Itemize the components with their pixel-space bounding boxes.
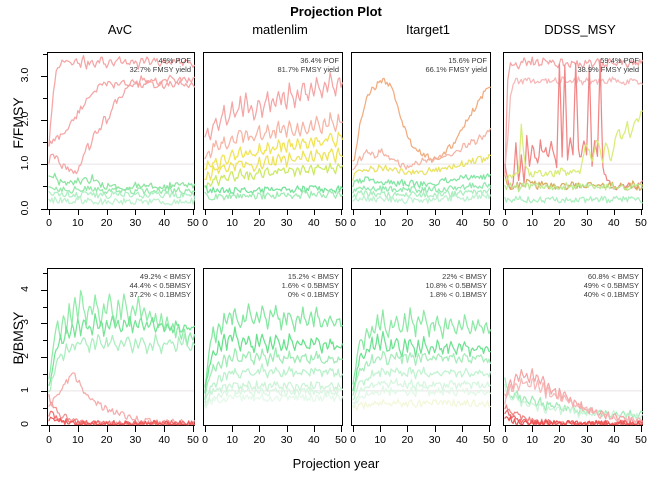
y-axis-minor-tick (43, 340, 47, 341)
x-axis-tick-label: 0 (193, 217, 217, 229)
x-axis-tick-label: 20 (95, 434, 119, 446)
panel-title-avc: AvC (40, 22, 200, 37)
x-axis-tick-label: 20 (395, 434, 419, 446)
plot-panel-itarget1-f-fmsy: 15.6% POF66.1% FMSY yield (351, 52, 491, 210)
plot-panel-itarget1-b-bmsy: 22% < BMSY10.8% < 0.5BMSY1.8% < 0.1BMSY (351, 268, 491, 426)
x-axis-tick-label: 40 (602, 434, 626, 446)
y-axis-tick-label: 0 (19, 408, 31, 440)
x-axis-tick-label: 0 (341, 434, 365, 446)
x-axis-tick (232, 210, 233, 215)
x-axis-tick-label: 20 (547, 217, 571, 229)
series-line (49, 80, 194, 145)
x-axis-tick (489, 426, 490, 432)
x-axis-tick (164, 426, 165, 432)
x-axis-tick (353, 426, 354, 432)
x-axis-tick (641, 426, 642, 432)
x-axis-tick (505, 426, 506, 432)
series-line (505, 196, 642, 203)
y-axis-tick (41, 290, 47, 291)
x-axis-tick (164, 210, 165, 215)
x-axis-tick-label: 30 (275, 217, 299, 229)
x-axis-tick-label: 0 (493, 217, 517, 229)
y-axis-minor-tick (43, 408, 47, 409)
series-line (49, 197, 194, 205)
x-axis-tick (614, 210, 615, 215)
x-axis-tick (341, 210, 342, 215)
series-line (353, 193, 490, 203)
x-axis-tick-label: 30 (423, 434, 447, 446)
x-axis-tick-label: 0 (37, 217, 61, 229)
projection-plot-figure: Projection Plot AvC matlenlim Itarget1 D… (0, 0, 672, 480)
panel-title-ddss-msy: DDSS_MSY (500, 22, 660, 37)
series-canvas (47, 52, 195, 210)
x-axis-tick (205, 426, 206, 432)
y-axis-minor-tick (43, 374, 47, 375)
x-axis-tick (205, 210, 206, 215)
series-canvas (351, 268, 491, 426)
x-axis-tick (641, 210, 642, 215)
x-axis-label: Projection year (0, 456, 672, 471)
y-axis-tick-label: 1 (19, 374, 31, 406)
x-axis-tick-label: 0 (493, 434, 517, 446)
x-axis-tick-label: 40 (602, 217, 626, 229)
x-axis-tick (435, 426, 436, 432)
x-axis-tick-label: 30 (575, 434, 599, 446)
series-line (353, 79, 490, 163)
x-axis-tick (259, 210, 260, 215)
x-axis-tick-label: 20 (247, 434, 271, 446)
series-canvas (203, 52, 343, 210)
series-canvas (47, 268, 195, 426)
y-axis-tick-label: 2 (19, 340, 31, 372)
y-axis-tick-label: 3.0 (19, 59, 31, 91)
x-axis-tick (193, 426, 194, 432)
y-axis-minor-tick (43, 142, 47, 143)
y-axis-tick-label: 4 (19, 273, 31, 305)
x-axis-tick-label: 10 (520, 217, 544, 229)
series-line (49, 56, 194, 146)
x-axis-tick (135, 426, 136, 432)
x-axis-tick-label: 40 (152, 434, 176, 446)
y-axis-minor-tick (43, 54, 47, 55)
x-axis-tick (78, 426, 79, 432)
series-line (49, 373, 194, 425)
y-axis-tick (41, 209, 47, 210)
series-line (205, 191, 342, 200)
x-axis-tick-label: 30 (123, 434, 147, 446)
series-line (205, 163, 342, 188)
x-axis-tick-label: 0 (37, 434, 61, 446)
x-axis-tick-label: 20 (95, 217, 119, 229)
x-axis-tick-label: 30 (575, 217, 599, 229)
plot-panel-matlenlim-b-bmsy: 15.2% < BMSY1.6% < 0.5BMSY0% < 0.1BMSY (203, 268, 343, 426)
x-axis-tick-label: 0 (341, 217, 365, 229)
x-axis-tick (407, 426, 408, 432)
y-axis-tick-label: 2.0 (19, 103, 31, 135)
y-axis-tick (41, 164, 47, 165)
figure-title: Projection Plot (0, 4, 672, 19)
x-axis-tick (462, 210, 463, 215)
plot-panel-ddss-msy-b-bmsy: 60.8% < BMSY49% < 0.5BMSY40% < 0.1BMSY (503, 268, 643, 426)
x-axis-tick (532, 426, 533, 432)
x-axis-tick (353, 210, 354, 215)
plot-panel-avc-b-bmsy: 49.2% < BMSY44.4% < 0.5BMSY37.2% < 0.1BM… (47, 268, 195, 426)
x-axis-tick (380, 210, 381, 215)
series-line (49, 173, 194, 190)
x-axis-tick (559, 426, 560, 432)
x-axis-tick (78, 210, 79, 215)
x-axis-tick (614, 426, 615, 432)
x-axis-tick (435, 210, 436, 215)
y-axis-tick (41, 391, 47, 392)
y-axis-minor-tick (43, 76, 47, 77)
series-canvas (203, 268, 343, 426)
y-axis-minor-tick (43, 186, 47, 187)
x-axis-tick (380, 426, 381, 432)
y-axis-tick (41, 357, 47, 358)
x-axis-tick (287, 426, 288, 432)
y-axis-tick-label: 1.0 (19, 147, 31, 179)
x-axis-tick-label: 10 (368, 434, 392, 446)
x-axis-tick-label: 10 (220, 217, 244, 229)
x-axis-tick (559, 210, 560, 215)
x-axis-tick-label: 50 (629, 434, 653, 446)
x-axis-tick-label: 40 (302, 217, 326, 229)
y-axis-minor-tick (43, 273, 47, 274)
x-axis-tick-label: 30 (123, 217, 147, 229)
x-axis-tick-label: 30 (423, 217, 447, 229)
x-axis-tick (314, 426, 315, 432)
x-axis-tick (587, 210, 588, 215)
series-line (353, 129, 490, 170)
y-axis-tick-label: 0.0 (19, 192, 31, 224)
x-axis-tick (107, 210, 108, 215)
x-axis-tick-label: 10 (520, 434, 544, 446)
y-axis-tick (41, 425, 47, 426)
x-axis-tick-label: 10 (368, 217, 392, 229)
x-axis-tick-label: 40 (152, 217, 176, 229)
x-axis-tick (107, 426, 108, 432)
plot-panel-avc-f-fmsy: 49% POF32.7% FMSY yield (47, 52, 195, 210)
x-axis-tick-label: 30 (275, 434, 299, 446)
x-axis-tick (49, 426, 50, 432)
x-axis-tick (341, 426, 342, 432)
x-axis-tick (505, 210, 506, 215)
series-line (353, 399, 490, 410)
series-canvas (503, 268, 643, 426)
x-axis-tick-label: 20 (395, 217, 419, 229)
x-axis-tick (314, 210, 315, 215)
x-axis-tick-label: 0 (193, 434, 217, 446)
x-axis-tick (532, 210, 533, 215)
panel-title-itarget1: Itarget1 (348, 22, 508, 37)
x-axis-tick (587, 426, 588, 432)
x-axis-tick (193, 210, 194, 215)
x-axis-tick (407, 210, 408, 215)
series-line (49, 291, 194, 379)
x-axis-tick-label: 40 (450, 434, 474, 446)
x-axis-tick-label: 40 (302, 434, 326, 446)
series-line (49, 334, 194, 392)
x-axis-tick-label: 10 (66, 434, 90, 446)
series-line (205, 72, 342, 139)
y-axis-minor-tick (43, 307, 47, 308)
x-axis-tick-label: 20 (547, 434, 571, 446)
x-axis-tick (489, 210, 490, 215)
x-axis-tick (259, 426, 260, 432)
x-axis-tick-label: 40 (450, 217, 474, 229)
y-axis-minor-tick (43, 98, 47, 99)
y-axis-tick (41, 120, 47, 121)
x-axis-tick-label: 10 (220, 434, 244, 446)
y-axis-tick-label: 3 (19, 306, 31, 338)
x-axis-tick (462, 426, 463, 432)
series-canvas (503, 52, 643, 210)
x-axis-tick-label: 10 (66, 217, 90, 229)
series-line (205, 393, 342, 409)
series-canvas (351, 52, 491, 210)
panel-title-matlenlim: matlenlim (200, 22, 360, 37)
x-axis-tick (135, 210, 136, 215)
plot-panel-matlenlim-f-fmsy: 36.4% POF81.7% FMSY yield (203, 52, 343, 210)
series-line (49, 75, 194, 173)
series-line (205, 186, 342, 194)
x-axis-tick (49, 210, 50, 215)
x-axis-tick (287, 210, 288, 215)
plot-panel-ddss-msy-f-fmsy: 59.4% POF38.9% FMSY yield (503, 52, 643, 210)
x-axis-tick (232, 426, 233, 432)
x-axis-tick-label: 50 (629, 217, 653, 229)
series-line (205, 387, 342, 407)
series-line (353, 174, 490, 188)
x-axis-tick-label: 20 (247, 217, 271, 229)
y-axis-tick (41, 323, 47, 324)
